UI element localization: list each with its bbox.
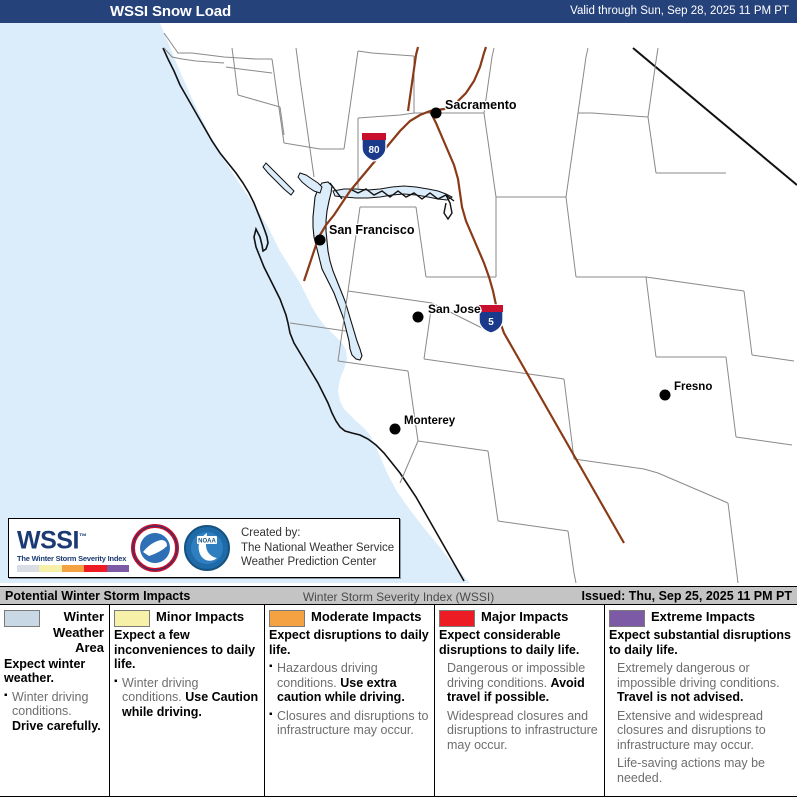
- wssi-wordmark: WSSI™: [17, 524, 127, 553]
- interstate-shield-5: 5: [479, 305, 503, 333]
- city-dot-sacramento: [431, 108, 442, 119]
- trademark-icon: ™: [79, 532, 87, 541]
- city-dot-monterey: [390, 424, 401, 435]
- legend-detail-list: Winter driving conditions. Drive careful…: [4, 690, 104, 734]
- legend-detail-list: Winter driving conditions. Use Caution w…: [114, 676, 259, 720]
- city-label-fresno: Fresno: [674, 381, 712, 393]
- legend-category-title: Major Impacts: [481, 609, 568, 625]
- legend-category-title: Winter Weather Area: [46, 609, 104, 656]
- app-header: WSSI Snow Load Valid through Sun, Sep 28…: [0, 0, 797, 23]
- city-label-monterey: Monterey: [404, 415, 456, 427]
- legend-column-header: Extreme Impacts: [609, 609, 792, 627]
- legend-swatch: [269, 610, 305, 627]
- map-canvas[interactable]: 80 5 Sacramento San Francisco San Jose: [0, 23, 797, 583]
- legend-column-moderate-impacts: Moderate ImpactsExpect disruptions to da…: [265, 605, 435, 796]
- legend-detail-emphasis: Use Caution while driving.: [122, 690, 258, 719]
- city-label-san-jose: San Jose: [428, 302, 481, 316]
- wssi-attribution-panel: WSSI™ The Winter Storm Severity Index NO…: [8, 518, 400, 578]
- svg-text:5: 5: [488, 317, 494, 328]
- legend-swatch: [609, 610, 645, 627]
- legend-column-header: Minor Impacts: [114, 609, 259, 627]
- legend-swatch: [114, 610, 150, 627]
- legend-swatch: [4, 610, 40, 627]
- legend-detail-item: Widespread closures and disruptions to i…: [439, 709, 599, 753]
- legend-columns: Winter Weather AreaExpect winter weather…: [0, 605, 797, 797]
- legend-column-header: Major Impacts: [439, 609, 599, 627]
- legend-category-title: Extreme Impacts: [651, 609, 755, 625]
- legend-category-title: Minor Impacts: [156, 609, 244, 625]
- city-label-sacramento: Sacramento: [445, 98, 517, 112]
- page-title: WSSI Snow Load: [110, 3, 231, 20]
- legend-detail-item: Winter driving conditions. Use Caution w…: [114, 676, 259, 720]
- legend-detail-emphasis: Avoid travel if possible.: [447, 676, 585, 705]
- map-graphic: 80 5 Sacramento San Francisco San Jose: [0, 23, 797, 583]
- city-dot-san-francisco: [315, 235, 326, 246]
- legend-lead-text: Expect disruptions to daily life.: [269, 628, 429, 657]
- legend-header-bar: Potential Winter Storm Impacts Winter St…: [0, 586, 797, 605]
- legend-column-header: Winter Weather Area: [4, 609, 104, 656]
- created-by-block: Created by: The National Weather Service…: [241, 526, 394, 570]
- legend-detail-emphasis: Travel is not advised.: [617, 690, 743, 704]
- wssi-logo: WSSI™ The Winter Storm Severity Index: [9, 524, 127, 571]
- nws-seal-icon: [131, 524, 179, 572]
- legend-bar-issued: Issued: Thu, Sep 25, 2025 11 PM PT: [582, 589, 793, 603]
- legend-column-major-impacts: Major ImpactsExpect considerable disrupt…: [435, 605, 605, 796]
- legend-detail-item: Hazardous driving conditions. Use extra …: [269, 661, 429, 705]
- created-by-org: The National Weather Service: [241, 541, 394, 556]
- legend-detail-item: Extensive and widespread closures and di…: [609, 709, 792, 753]
- wssi-color-scale: [17, 565, 129, 572]
- legend-lead-text: Expect considerable disruptions to daily…: [439, 628, 599, 657]
- noaa-seal-icon: NOAA: [183, 524, 231, 572]
- svg-text:NOAA: NOAA: [198, 539, 216, 545]
- legend-column-winter-weather-area: Winter Weather AreaExpect winter weather…: [0, 605, 110, 796]
- legend-column-extreme-impacts: Extreme ImpactsExpect substantial disrup…: [605, 605, 797, 796]
- legend-column-minor-impacts: Minor ImpactsExpect a few inconveniences…: [110, 605, 265, 796]
- legend-category-title: Moderate Impacts: [311, 609, 422, 625]
- legend-detail-item: Closures and disruptions to infrastructu…: [269, 709, 429, 738]
- created-by-center: Weather Prediction Center: [241, 555, 394, 570]
- legend-detail-item: Life-saving actions may be needed.: [609, 756, 792, 785]
- legend-detail-item: Winter driving conditions. Drive careful…: [4, 690, 104, 734]
- legend-detail-list: Hazardous driving conditions. Use extra …: [269, 661, 429, 738]
- svg-text:80: 80: [368, 145, 380, 156]
- wssi-tagline: The Winter Storm Severity Index: [17, 554, 127, 563]
- legend-column-header: Moderate Impacts: [269, 609, 429, 627]
- legend-lead-text: Expect winter weather.: [4, 657, 104, 686]
- legend-detail-item: Extremely dangerous or impossible drivin…: [609, 661, 792, 705]
- legend-lead-text: Expect substantial disruptions to daily …: [609, 628, 792, 657]
- wssi-snow-load-page: WSSI Snow Load Valid through Sun, Sep 28…: [0, 0, 797, 797]
- legend-detail-emphasis: Use extra caution while driving.: [277, 676, 405, 705]
- legend-detail-list: Extremely dangerous or impossible drivin…: [609, 661, 792, 785]
- created-by-label: Created by:: [241, 526, 394, 541]
- legend-detail-item: Dangerous or impossible driving conditio…: [439, 661, 599, 705]
- legend-lead-text: Expect a few inconveniences to daily lif…: [114, 628, 259, 672]
- valid-through-text: Valid through Sun, Sep 28, 2025 11 PM PT: [570, 5, 789, 17]
- city-dot-fresno: [660, 390, 671, 401]
- interstate-shield-80: 80: [362, 133, 386, 161]
- city-dot-san-jose: [413, 312, 424, 323]
- legend-detail-emphasis: Drive carefully.: [12, 719, 101, 733]
- legend-swatch: [439, 610, 475, 627]
- wssi-wordmark-text: WSSI: [17, 527, 79, 555]
- city-label-san-francisco: San Francisco: [329, 223, 415, 237]
- legend-detail-list: Dangerous or impossible driving conditio…: [439, 661, 599, 752]
